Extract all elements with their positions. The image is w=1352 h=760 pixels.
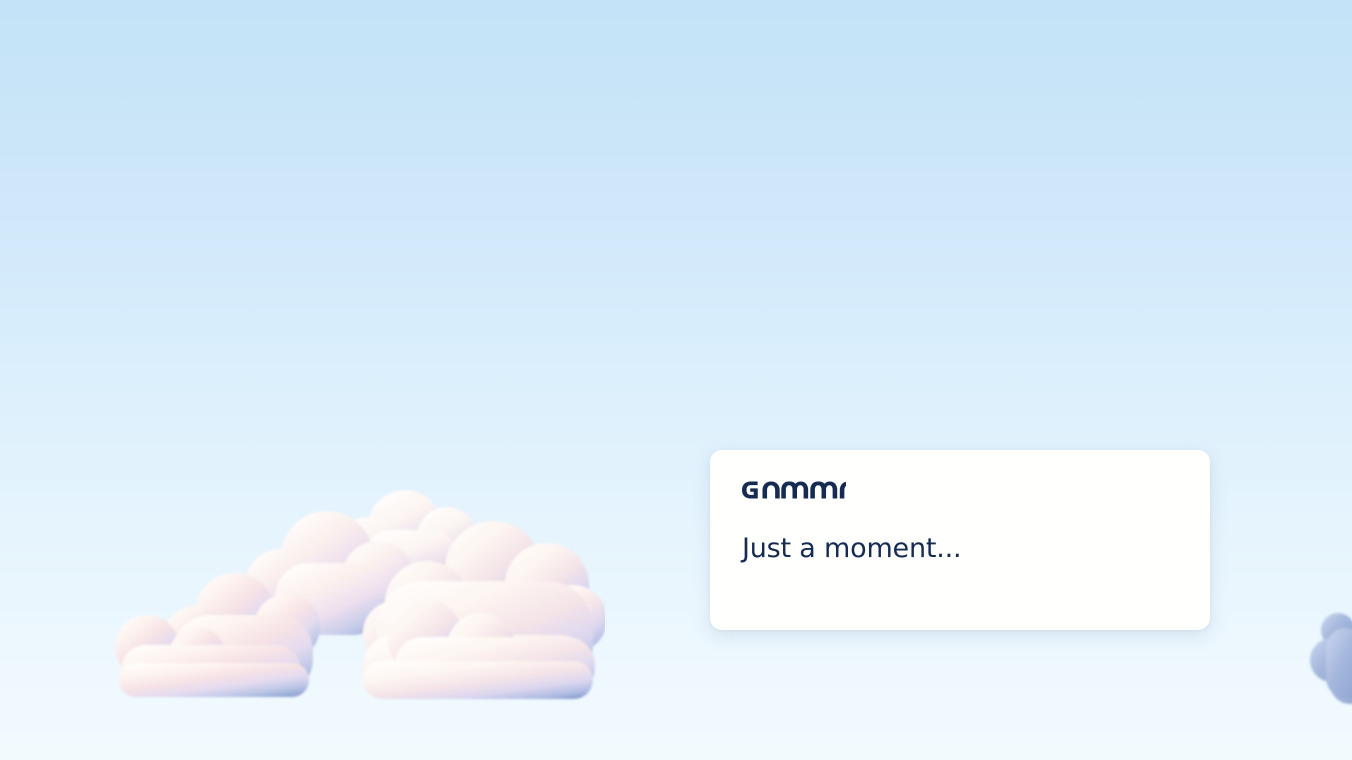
page-title: Just a moment... (742, 532, 1178, 566)
challenge-card: GAMMA Just a moment... (710, 450, 1210, 630)
sky-background (0, 0, 1352, 760)
gamma-wordmark-logo: GAMMA (742, 481, 846, 499)
cloud-illustration (95, 485, 605, 710)
cloud-illustration-partial (1302, 608, 1352, 713)
